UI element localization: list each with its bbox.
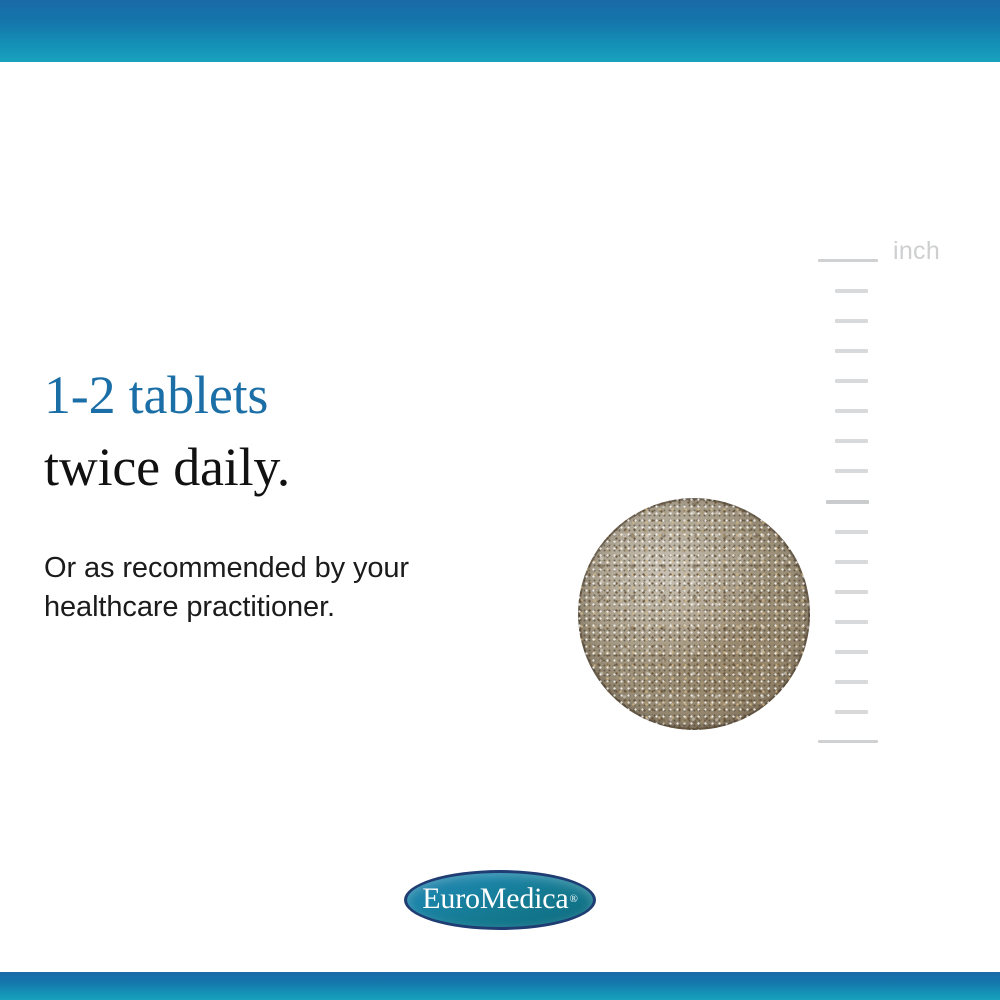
ruler-tick-0_5625 <box>835 530 868 534</box>
ruler-tick-0_125 <box>835 319 868 323</box>
dosage-headline-primary: 1-2 tablets <box>44 368 514 422</box>
ruler-tick-0_6875 <box>835 590 868 594</box>
dosage-subcopy-line-1: Or as recommended by your <box>44 549 514 588</box>
dosage-copy-block: 1-2 tablets twice daily. Or as recommend… <box>44 368 514 626</box>
bottom-brand-banner <box>0 972 1000 1000</box>
ruler-tick-0_9375 <box>835 710 868 714</box>
dosage-subcopy-line-2: healthcare practitioner. <box>44 588 514 627</box>
product-dosage-panel: 1-2 tablets twice daily. Or as recommend… <box>0 0 1000 1000</box>
ruler-tick-0_0625 <box>835 289 868 293</box>
tablet-photo <box>578 498 810 730</box>
inch-ruler: inch <box>815 250 985 750</box>
ruler-tick-0 <box>818 259 878 262</box>
dosage-subcopy: Or as recommended by your healthcare pra… <box>44 549 514 626</box>
top-brand-banner <box>0 0 1000 62</box>
logo-brand-text: EuroMedica <box>422 882 568 916</box>
ruler-tick-0_25 <box>835 379 868 383</box>
ruler-tick-0_1875 <box>835 349 868 353</box>
ruler-unit-label: inch <box>893 237 940 266</box>
ruler-tick-0_75 <box>835 620 868 624</box>
ruler-tick-0_625 <box>835 560 868 564</box>
ruler-tick-0_4375 <box>835 469 868 473</box>
ruler-tick-0_8125 <box>835 650 868 654</box>
euromedica-logo: EuroMedica® <box>398 866 602 934</box>
dosage-headline-secondary: twice daily. <box>44 440 514 494</box>
ruler-tick-0_5 <box>826 500 869 504</box>
tablet-image <box>578 498 810 730</box>
ruler-tick-0_875 <box>835 680 868 684</box>
ruler-tick-1 <box>818 740 878 743</box>
ruler-tick-0_375 <box>835 439 868 443</box>
ruler-tick-0_3125 <box>835 409 868 413</box>
logo-wordmark: EuroMedica® <box>398 866 602 934</box>
